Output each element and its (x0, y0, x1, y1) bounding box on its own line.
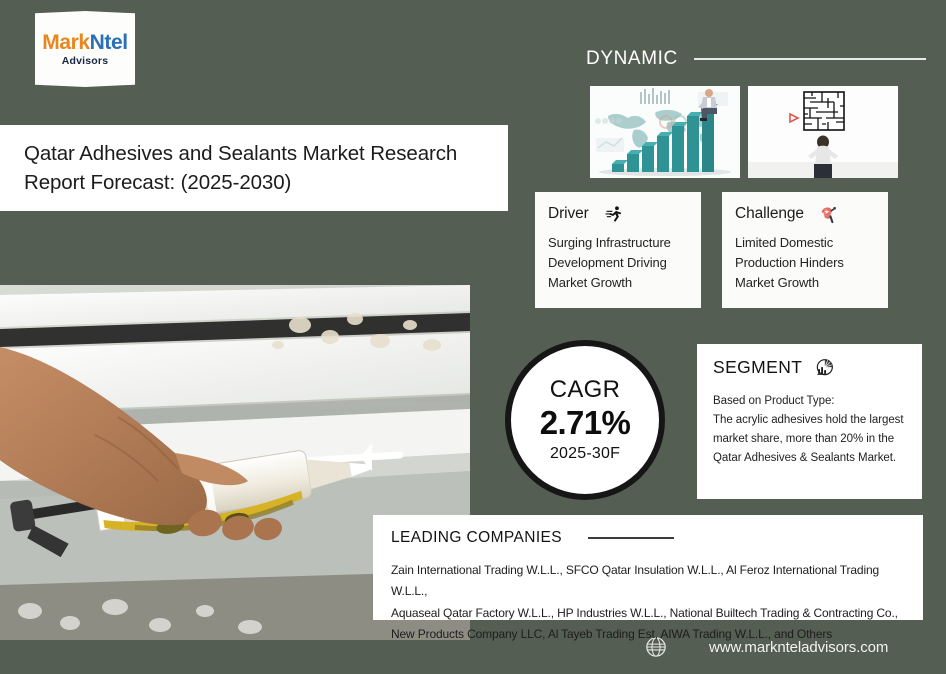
segment-title: SEGMENT (713, 357, 802, 378)
challenge-card: Challenge Limited Domestic Production Hi… (722, 192, 888, 308)
challenge-card-header: Challenge (735, 204, 875, 224)
growth-bar-chart-image (590, 86, 740, 178)
running-person-icon (605, 204, 625, 224)
dynamic-divider (694, 58, 926, 60)
report-title-panel: Qatar Adhesives and Sealants Market Rese… (0, 125, 508, 211)
leading-companies-header: LEADING COMPANIES (391, 529, 907, 547)
page-title-line-2: Report Forecast: (2025-2030) (24, 168, 494, 197)
cagr-label: CAGR (550, 377, 621, 403)
leading-companies-title: LEADING COMPANIES (391, 529, 562, 547)
segment-line-1: Based on Product Type: (713, 392, 906, 411)
maze-challenge-image (748, 86, 898, 178)
driver-card-title: Driver (548, 205, 589, 223)
challenge-card-title: Challenge (735, 205, 804, 223)
leading-companies-line-3: New Products Company LLC, Al Tayeb Tradi… (391, 624, 907, 645)
segment-header: SEGMENT (713, 357, 906, 378)
logo-wordmark: MarkNtel (42, 32, 128, 53)
segment-body: Based on Product Type: The acrylic adhes… (713, 392, 906, 468)
leading-companies-line-1: Zain International Trading W.L.L., SFCO … (391, 560, 907, 603)
logo-word-mark: Mark (42, 31, 89, 54)
infographic-canvas: MarkNtel Advisors Qatar Adhesives and Se… (0, 0, 946, 674)
segment-line-4: Qatar Adhesives & Sealants Market. (713, 449, 906, 468)
segment-line-3: market share, more than 20% in the (713, 430, 906, 449)
dynamic-label: DYNAMIC (586, 48, 678, 70)
cagr-value: 2.71% (540, 404, 631, 442)
logo-word-ntel: Ntel (90, 31, 128, 54)
page-title-line-1: Qatar Adhesives and Sealants Market Rese… (24, 139, 494, 168)
leading-companies-panel: LEADING COMPANIES Zain International Tra… (373, 515, 923, 620)
tangled-knot-icon (820, 204, 840, 224)
dynamic-section-header: DYNAMIC (586, 46, 926, 72)
leading-companies-divider (588, 537, 674, 539)
driver-card-body: Surging Infrastructure Development Drivi… (548, 233, 688, 293)
leading-companies-line-2: Aquaseal Qatar Factory W.L.L., HP Indust… (391, 603, 907, 624)
brand-logo[interactable]: MarkNtel Advisors (35, 11, 135, 87)
driver-card: Driver Surging Infrastructure Developmen… (535, 192, 701, 308)
cagr-period: 2025-30F (550, 445, 620, 463)
pie-bar-chart-icon (814, 358, 834, 378)
segment-line-2: The acrylic adhesives hold the largest (713, 411, 906, 430)
challenge-card-body: Limited Domestic Production Hinders Mark… (735, 233, 875, 293)
cagr-badge: CAGR 2.71% 2025-30F (505, 340, 665, 500)
driver-card-header: Driver (548, 204, 688, 224)
segment-panel: SEGMENT Based on Produc (697, 344, 922, 499)
logo-tagline: Advisors (62, 55, 109, 67)
